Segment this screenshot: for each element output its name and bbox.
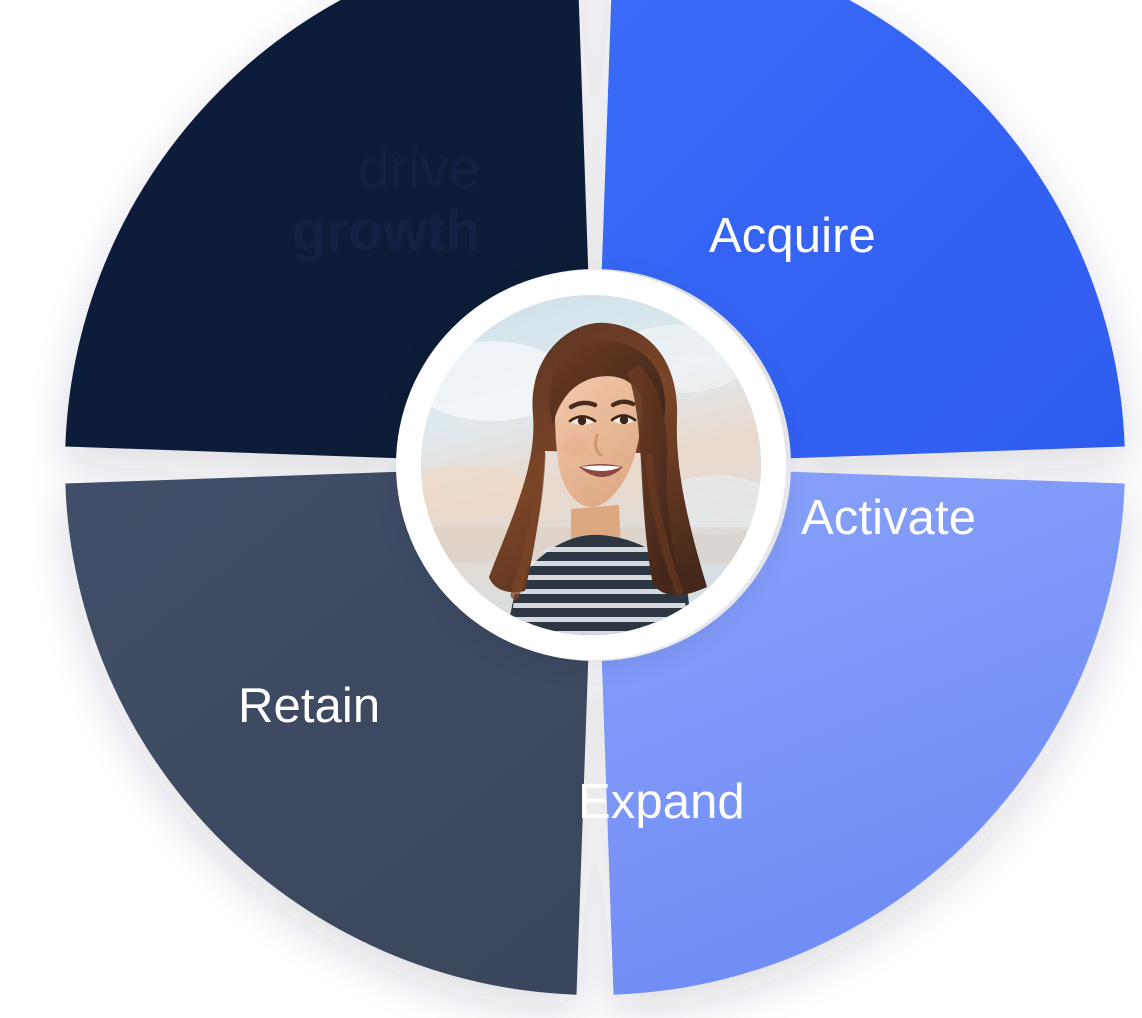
avatar-ring bbox=[396, 270, 786, 660]
growth-wheel-graphic: Acquire Activate Expand Retain drive gro… bbox=[0, 0, 1142, 1018]
avatar-photo bbox=[421, 295, 761, 635]
headline: drive growth bbox=[120, 140, 480, 260]
slice-label-activate: Activate bbox=[801, 494, 976, 543]
headline-line-1: drive bbox=[120, 140, 480, 198]
slice-label-acquire: Acquire bbox=[709, 212, 876, 261]
slice-label-expand: Expand bbox=[578, 778, 745, 827]
slice-label-retain: Retain bbox=[238, 682, 380, 731]
avatar-portrait-illustration bbox=[421, 295, 761, 635]
headline-line-2: growth bbox=[120, 202, 480, 260]
